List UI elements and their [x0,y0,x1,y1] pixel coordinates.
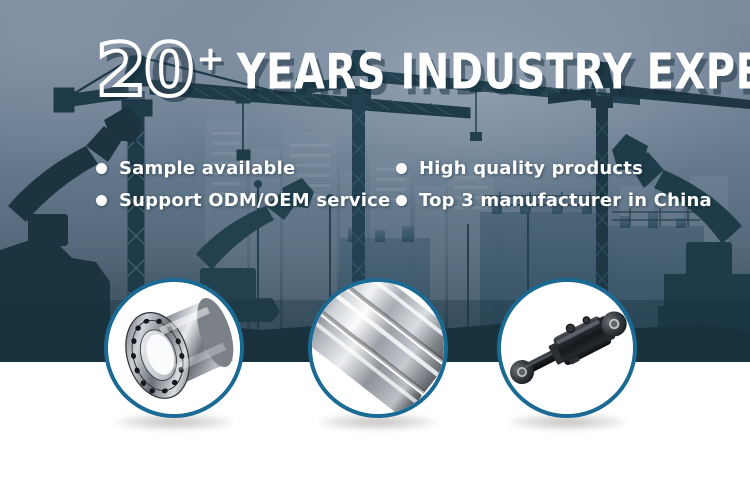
product-caption: Machined steel flange with bolt holes [108,414,109,415]
product-circle-steel-flange[interactable]: Machined steel flange with bolt holes [104,278,244,418]
promo-banner: 20 + YEARS INDUSTRY EXPERIENCE Sample av… [0,0,750,482]
product-caption: Black hydraulic cylinder with mounting e… [501,414,502,415]
product-caption: Polished stainless steel round bars [312,414,313,415]
product-circle-hydraulic-cylinder[interactable]: Black hydraulic cylinder with mounting e… [497,278,637,418]
product-circle-steel-bars[interactable]: Polished stainless steel round bars [308,278,448,418]
product-circle-group: Machined steel flange with bolt holes [0,0,750,482]
